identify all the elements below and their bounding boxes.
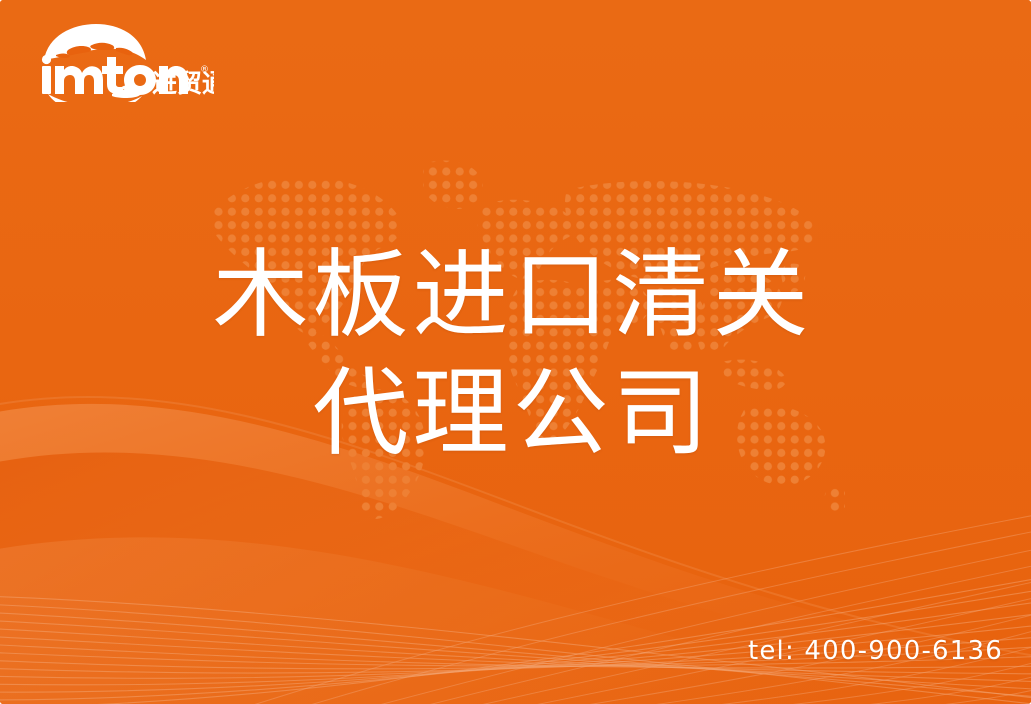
headline-line-2: 代理公司 [0,354,1031,472]
globe-arc-icon [44,24,146,60]
headline-line-1: 木板进口清关 [0,236,1031,354]
trademark-icon: ® [200,65,209,75]
contact-phone[interactable]: tel: 400-900-6136 [748,636,1003,666]
brand-logo[interactable]: 进贸通 ® [34,24,214,102]
promo-banner: 进贸通 ® 木板进口清关 代理公司 tel: 400-900-6136 [0,0,1031,704]
page-title: 木板进口清关 代理公司 [0,236,1031,472]
